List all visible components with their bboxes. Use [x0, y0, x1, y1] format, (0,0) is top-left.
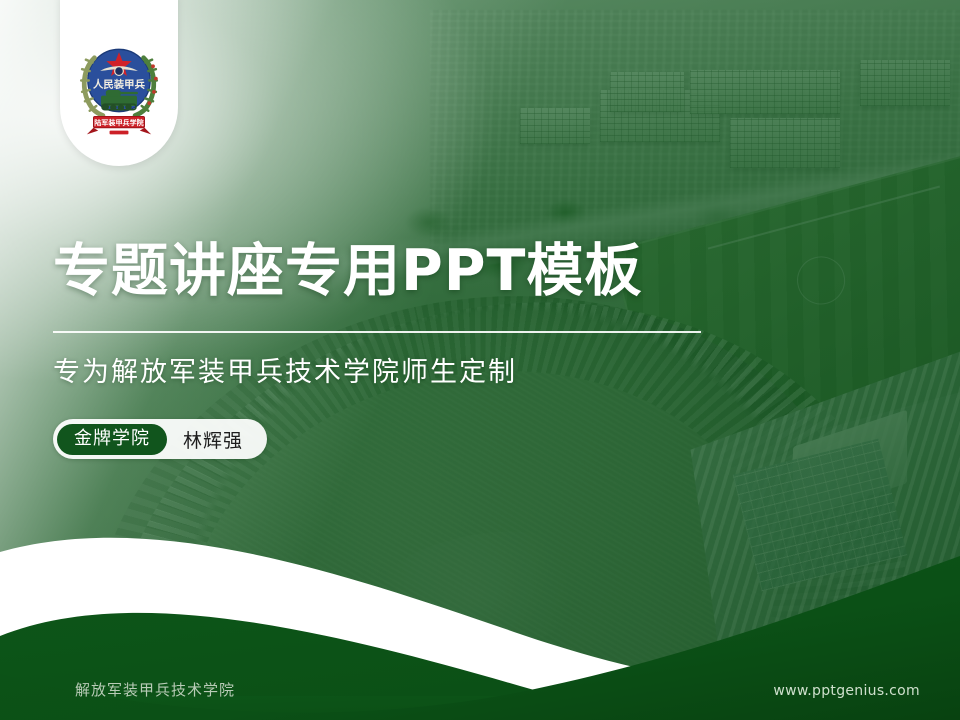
headline-divider-rule — [53, 331, 701, 333]
slide-subtitle: 专为解放军装甲兵技术学院师生定制 — [53, 350, 517, 389]
pla-armored-forces-academy-emblem-icon: 人民装甲兵 陆军装甲兵学院 — [71, 37, 167, 141]
slide-headline: 专题讲座专用PPT模板 — [53, 240, 642, 304]
author-credit-pill: 金牌学院 林辉强 — [53, 419, 267, 459]
emblem-banner-text: 陆军装甲兵学院 — [94, 118, 144, 127]
author-name: 林辉强 — [167, 426, 263, 453]
academy-logo-tab: 人民装甲兵 陆军装甲兵学院 — [60, 0, 178, 166]
presentation-title-slide: 人民装甲兵 陆军装甲兵学院 专题讲座专用PPT模板 专为解放军装甲兵技术学院师生… — [0, 0, 960, 720]
footer-website-url[interactable]: www.pptgenius.com — [773, 683, 920, 699]
gold-academy-badge: 金牌学院 — [57, 424, 167, 455]
emblem-main-text: 人民装甲兵 — [93, 78, 146, 91]
footer-institution-name: 解放军装甲兵技术学院 — [75, 679, 235, 700]
